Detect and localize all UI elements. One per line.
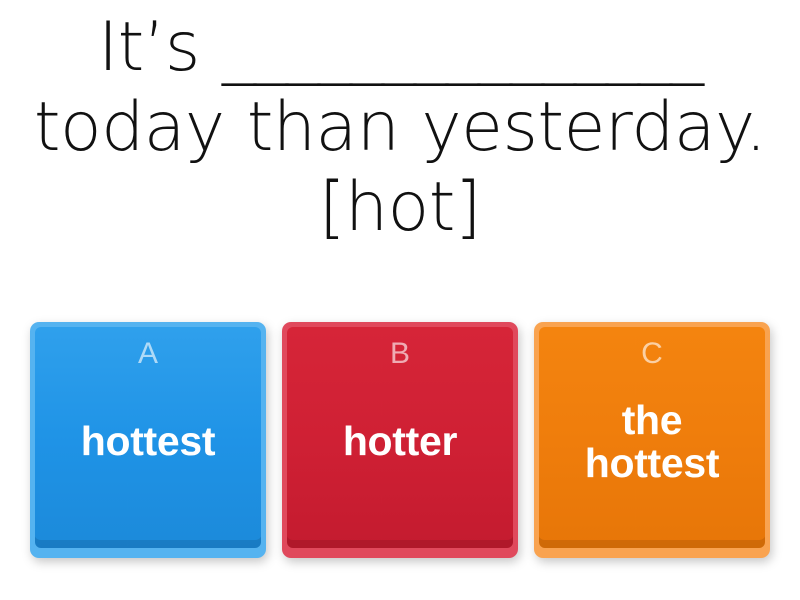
answer-option-c[interactable]: C the hottest [534,322,770,558]
answer-option-c-surface: C the hottest [539,327,765,548]
answer-option-a-label: hottest [41,383,255,501]
answer-option-c-label: the hottest [545,383,759,501]
answer-option-c-letter: C [641,339,663,369]
answer-option-b[interactable]: B hotter [282,322,518,558]
question-line2: today than [34,88,399,167]
answer-option-b-letter: B [390,339,410,369]
question-area: It’s _______________ today than yesterda… [20,0,780,249]
answer-option-a-surface: A hottest [35,327,261,548]
quiz-container: It’s _______________ today than yesterda… [0,0,800,600]
answer-option-b-surface: B hotter [287,327,513,548]
answer-option-a-letter: A [138,339,158,369]
answer-options-row: A hottest B hotter C the hottest [0,322,800,572]
answer-option-a[interactable]: A hottest [30,322,266,558]
question-blank: _______________ [222,8,702,87]
question-prefix: It’s [98,8,222,87]
answer-option-b-label: hotter [293,383,507,501]
question-text: It’s _______________ today than yesterda… [20,8,780,249]
